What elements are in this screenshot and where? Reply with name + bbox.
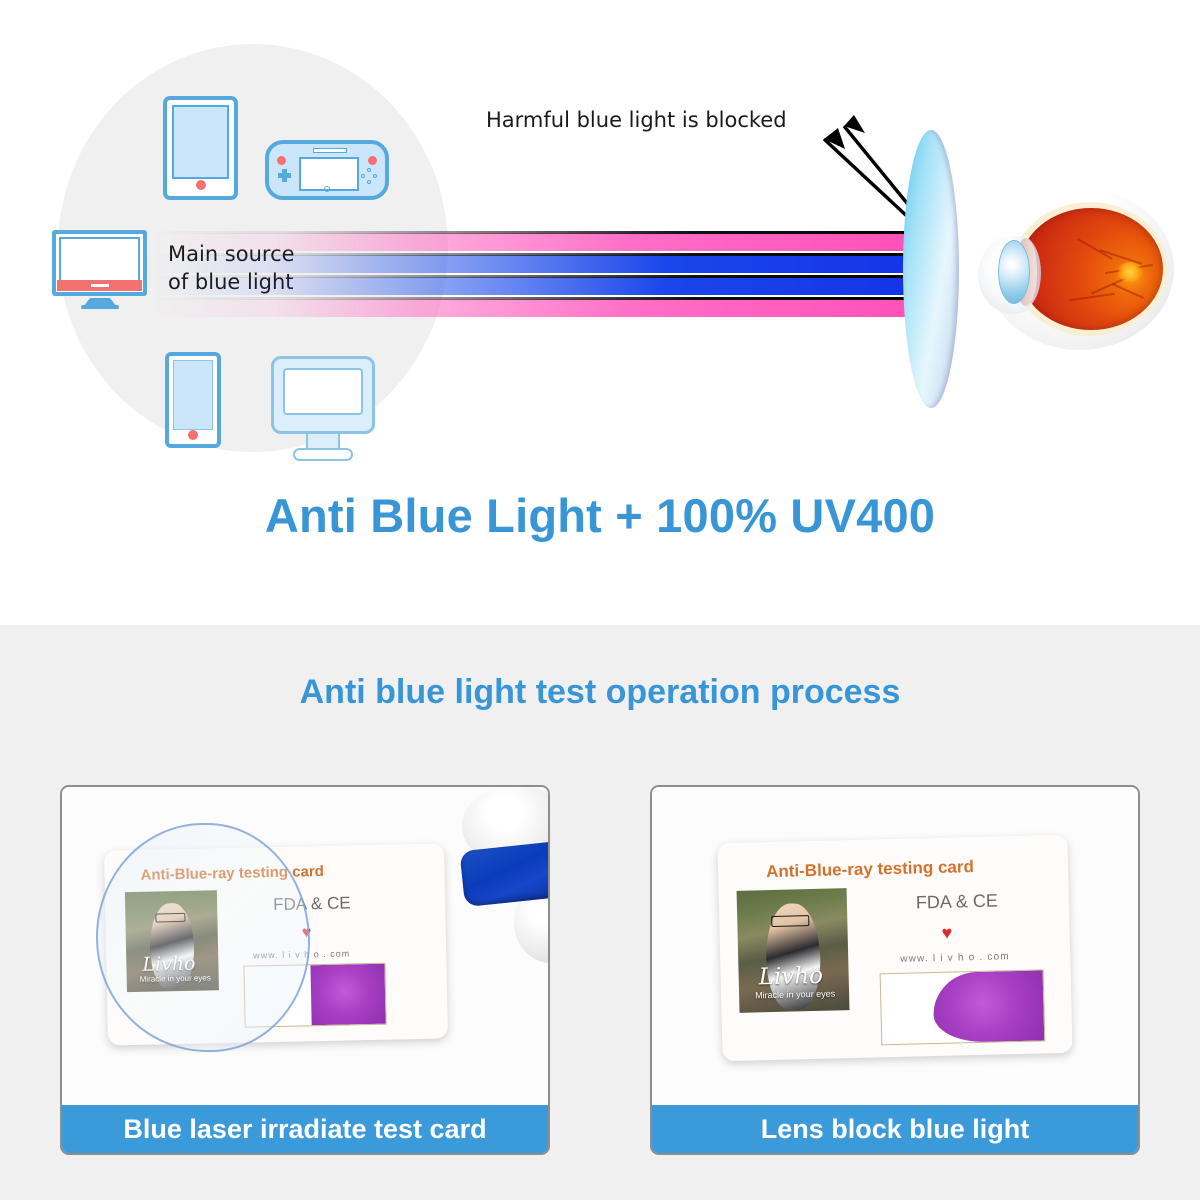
card-slogan-right: Miracle in your eyes bbox=[755, 988, 835, 1000]
panel-right-caption: Lens block blue light bbox=[652, 1105, 1138, 1153]
light-beam-pink-bottom bbox=[150, 299, 930, 317]
beam-stroke-4 bbox=[150, 297, 930, 300]
desktop-monitor-icon bbox=[271, 356, 375, 434]
tablet-icon bbox=[163, 96, 238, 200]
television-icon bbox=[52, 230, 147, 296]
beam-stroke-2 bbox=[150, 253, 930, 256]
card-title-right: Anti-Blue-ray testing card bbox=[766, 857, 974, 882]
light-beam-blue-lower bbox=[150, 277, 930, 295]
test-process-section: Anti blue light test operation process A… bbox=[0, 625, 1200, 1200]
card-model-photo-right: Livho Miracle in your eyes bbox=[737, 888, 850, 1013]
card-heart-icon-right: ♥ bbox=[941, 923, 952, 944]
test-panel-right: Anti-Blue-ray testing card FDA & CE ♥ ww… bbox=[650, 785, 1140, 1155]
light-beam-pink-top bbox=[150, 233, 930, 251]
section-title: Anti blue light test operation process bbox=[0, 673, 1200, 712]
test-panel-left: Anti-Blue-ray testing card FDA & CE ♥ ww… bbox=[60, 785, 550, 1155]
card-certification-right: FDA & CE bbox=[916, 890, 999, 913]
beam-stroke-3 bbox=[150, 275, 930, 278]
light-beam-blue-upper bbox=[150, 255, 930, 273]
harmful-light-blocked-label: Harmful blue light is blocked bbox=[486, 106, 787, 134]
blue-laser-pen bbox=[459, 839, 548, 907]
blue-light-diagram-section: Main source of blue light Harmful blue l… bbox=[0, 0, 1200, 625]
eyeglass-lens-illustration bbox=[903, 130, 959, 408]
panel-right-photo: Anti-Blue-ray testing card FDA & CE ♥ ww… bbox=[652, 787, 1138, 1105]
testing-card-right: Anti-Blue-ray testing card FDA & CE ♥ ww… bbox=[717, 835, 1072, 1061]
card-brand-right: Livho bbox=[758, 963, 823, 991]
card-test-swatch-right bbox=[880, 969, 1046, 1045]
smartphone-icon bbox=[165, 352, 221, 448]
page-headline: Anti Blue Light + 100% UV400 bbox=[0, 488, 1200, 543]
panel-left-photo: Anti-Blue-ray testing card FDA & CE ♥ ww… bbox=[62, 787, 548, 1105]
card-url-right: www. l i v h o . com bbox=[900, 951, 1010, 965]
game-console-icon bbox=[265, 140, 389, 200]
human-eye-anatomy-illustration bbox=[978, 188, 1174, 350]
panel-left-caption: Blue laser irradiate test card bbox=[62, 1105, 548, 1153]
lens-overlay-left bbox=[96, 823, 310, 1052]
beam-stroke-1 bbox=[150, 231, 930, 234]
